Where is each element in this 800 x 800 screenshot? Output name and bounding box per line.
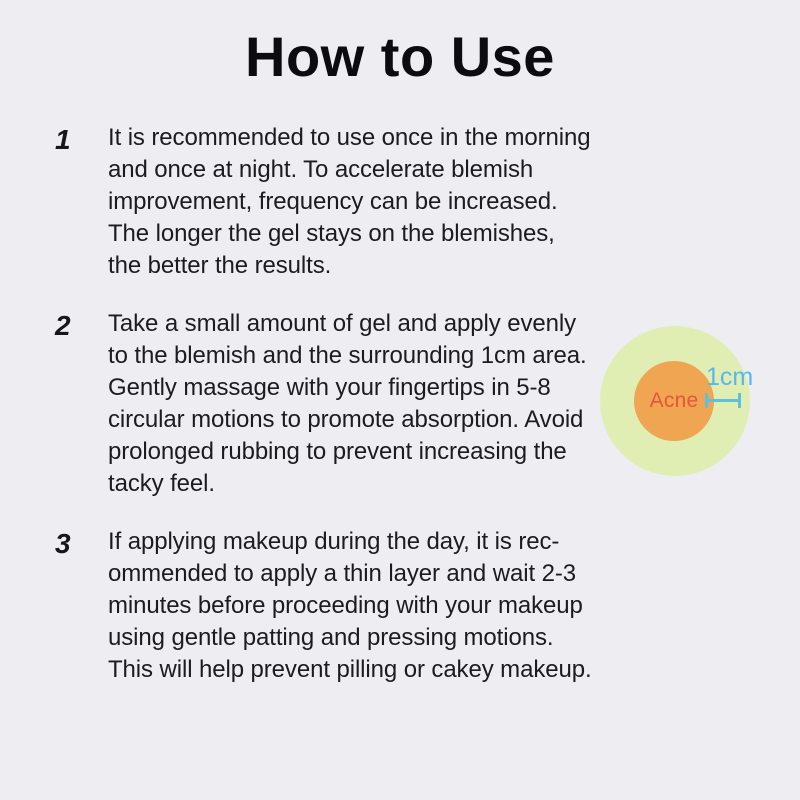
- how-to-use-infographic: How to Use 1 It is recommended to use on…: [0, 0, 800, 800]
- page-title: How to Use: [0, 28, 800, 87]
- step-text: Take a small amount of gel and apply eve…: [108, 308, 594, 500]
- step-text: If applying makeup during the day, it is…: [108, 526, 594, 686]
- acne-spot-label: Acne: [634, 361, 714, 441]
- list-item: 3 If applying makeup during the day, it …: [0, 526, 800, 686]
- measure-cap-right: [738, 393, 741, 408]
- list-item: 1 It is recommended to use once in the m…: [0, 122, 800, 282]
- application-area-diagram: Acne 1cm: [598, 325, 758, 477]
- step-number: 3: [55, 528, 89, 560]
- measurement-bar-icon: [705, 393, 741, 407]
- step-text: It is recommended to use once in the mor…: [108, 122, 594, 282]
- measurement-label: 1cm: [706, 363, 753, 392]
- measure-line: [705, 399, 741, 402]
- step-number: 2: [55, 310, 89, 342]
- step-number: 1: [55, 124, 89, 156]
